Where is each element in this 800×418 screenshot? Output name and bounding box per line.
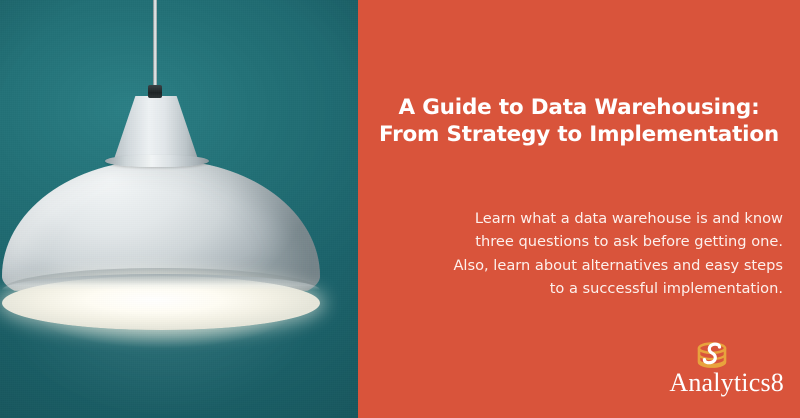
headline-line-2: From Strategy to Implementation (370, 121, 788, 148)
promo-banner: A Guide to Data Warehousing: From Strate… (0, 0, 800, 418)
subcopy-line-4: to a successful implementation. (398, 277, 783, 301)
lamp-neck-ring (105, 155, 209, 167)
brand-wordmark: Analytics8 (640, 368, 784, 398)
subcopy-line-2: three questions to ask before getting on… (398, 230, 783, 254)
subcopy-line-1: Learn what a data warehouse is and know (398, 207, 783, 231)
pendant-lamp-photo (0, 0, 358, 418)
brand-logo: Analytics8 (640, 342, 784, 400)
lamp-neck (113, 96, 199, 162)
page-title: A Guide to Data Warehousing: From Strate… (370, 94, 788, 148)
database-cylinder-s-icon (692, 342, 732, 370)
lamp-collar (148, 85, 162, 98)
subcopy-line-3: Also, learn about alternatives and easy … (398, 254, 783, 278)
lamp-cord (153, 0, 157, 90)
description-text: Learn what a data warehouse is and know … (398, 207, 783, 301)
headline-line-1: A Guide to Data Warehousing: (370, 94, 788, 121)
